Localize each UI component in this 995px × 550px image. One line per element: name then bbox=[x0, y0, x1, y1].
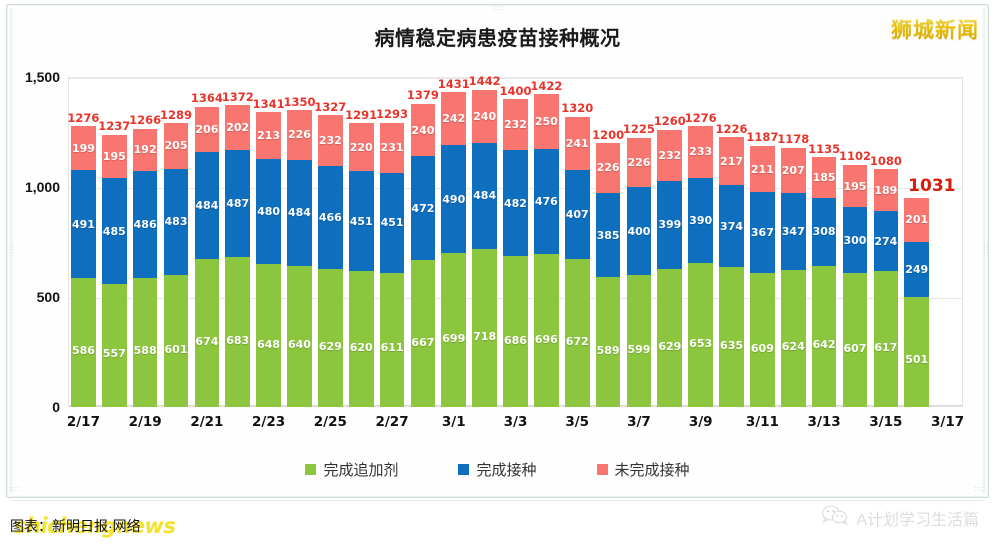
bar-segment[interactable]: 399 bbox=[657, 181, 682, 269]
bar-segment[interactable]: 484 bbox=[195, 152, 220, 258]
bar-segment[interactable]: 629 bbox=[657, 269, 682, 407]
bar-segment-value: 231 bbox=[381, 142, 404, 153]
x-axis-tick-label: 2/23 bbox=[252, 414, 285, 430]
bar-segment-value: 611 bbox=[381, 342, 404, 353]
bar-total-label: 1320 bbox=[561, 103, 593, 115]
bar-segment[interactable]: 195 bbox=[102, 135, 127, 178]
bar-segment-value: 653 bbox=[689, 338, 712, 349]
bar-segment-value: 472 bbox=[411, 203, 434, 214]
bar-segment-value: 482 bbox=[504, 198, 527, 209]
bar-total-label: 1431 bbox=[438, 79, 470, 91]
bar-total-label: 1187 bbox=[746, 132, 778, 144]
bar-segment[interactable]: 189 bbox=[874, 169, 899, 211]
bar-segment-value: 199 bbox=[72, 143, 95, 154]
bar-segment-value: 451 bbox=[381, 217, 404, 228]
bar-segment[interactable]: 476 bbox=[534, 149, 559, 254]
x-axis-tick-label: 2/27 bbox=[375, 414, 408, 430]
bar-total-label: 1341 bbox=[253, 99, 285, 111]
bar-segment-value: 240 bbox=[411, 125, 434, 136]
bar-segment-value: 240 bbox=[473, 111, 496, 122]
chart-legend: 完成追加剂完成接种未完成接种 bbox=[0, 459, 995, 480]
bar-column[interactable]: 1953006071102 bbox=[843, 165, 868, 407]
bar-segment[interactable]: 407 bbox=[565, 170, 590, 260]
bar-segment[interactable]: 250 bbox=[534, 94, 559, 149]
x-axis-tick-label: 3/3 bbox=[504, 414, 528, 430]
bar-column[interactable]: 2504766961422 bbox=[534, 94, 559, 407]
y-axis-tick-label: 1,000 bbox=[0, 179, 60, 195]
bar-segment-value: 308 bbox=[813, 226, 836, 237]
bar-segment[interactable]: 472 bbox=[411, 156, 436, 260]
bar-segment-value: 485 bbox=[103, 226, 126, 237]
bar-segment-value: 483 bbox=[165, 216, 188, 227]
bar-segment[interactable]: 232 bbox=[503, 99, 528, 150]
bar-segment[interactable]: 589 bbox=[596, 277, 621, 407]
bar-segment[interactable]: 629 bbox=[318, 269, 343, 407]
legend-item[interactable]: 完成追加剂 bbox=[305, 459, 398, 480]
bar-total-label: 1372 bbox=[222, 92, 254, 104]
bar-segment[interactable]: 226 bbox=[596, 143, 621, 193]
x-axis-tick-label: 3/13 bbox=[808, 414, 841, 430]
bar-total-label: 1080 bbox=[870, 156, 902, 168]
bar-total-label: 1442 bbox=[469, 76, 501, 88]
bar-segment-value: 624 bbox=[782, 341, 805, 352]
y-axis-tick-label: 1,500 bbox=[0, 69, 60, 85]
bar-segment[interactable]: 385 bbox=[596, 193, 621, 278]
bar-segment-value: 249 bbox=[905, 264, 928, 275]
bar-segment-value: 195 bbox=[843, 181, 866, 192]
bar-segment-value: 241 bbox=[566, 138, 589, 149]
y-axis-tick-label: 500 bbox=[0, 289, 60, 305]
bar-segment[interactable]: 274 bbox=[874, 211, 899, 271]
bar-segment-value: 501 bbox=[905, 354, 928, 365]
bar-total-label: 1276 bbox=[685, 113, 717, 125]
x-axis-tick-label: 3/1 bbox=[442, 414, 466, 430]
bar-segment[interactable]: 207 bbox=[781, 148, 806, 194]
bar-total-label: 1200 bbox=[592, 130, 624, 142]
bar-segment[interactable]: 226 bbox=[287, 110, 312, 160]
bar-segment-value: 300 bbox=[843, 235, 866, 246]
resize-grip-bottom-left[interactable]: :::: bbox=[9, 487, 21, 493]
resize-grip-top[interactable]: :::: bbox=[492, 6, 504, 12]
bar-segment-value: 347 bbox=[782, 226, 805, 237]
bar-column[interactable]: 1853086421135 bbox=[812, 157, 837, 407]
bar-segment-value: 390 bbox=[689, 215, 712, 226]
bar-segment-value: 367 bbox=[751, 227, 774, 238]
bar-column[interactable]: 2134806481341 bbox=[256, 112, 281, 407]
x-axis-tick-label: 3/17 bbox=[931, 414, 964, 430]
bar-segment-value: 233 bbox=[689, 146, 712, 157]
bar-column[interactable]: 2264005991225 bbox=[627, 138, 652, 407]
bar-segment-value: 642 bbox=[813, 339, 836, 350]
bar-segment-value: 486 bbox=[134, 219, 157, 230]
bar-segment-value: 620 bbox=[350, 342, 373, 353]
bar-segment-value: 192 bbox=[134, 144, 157, 155]
bar-segment-value: 189 bbox=[874, 185, 897, 196]
bar-column[interactable]: 1954855571237 bbox=[102, 135, 127, 407]
bar-segment-value: 635 bbox=[720, 340, 743, 351]
legend-item[interactable]: 完成接种 bbox=[458, 459, 536, 480]
bar-total-label: 1226 bbox=[716, 124, 748, 136]
bar-column[interactable]: 2073476241178 bbox=[781, 148, 806, 407]
bar-segment[interactable]: 192 bbox=[133, 129, 158, 171]
page-title: 病情稳定病患疫苗接种概况 bbox=[0, 22, 995, 51]
bar-segment[interactable]: 308 bbox=[812, 198, 837, 266]
bar-segment[interactable]: 483 bbox=[164, 169, 189, 275]
bar-segment-value: 374 bbox=[720, 221, 743, 232]
bar-segment-value: 250 bbox=[535, 116, 558, 127]
bar-segment[interactable]: 480 bbox=[256, 159, 281, 265]
bar-segment-value: 195 bbox=[103, 151, 126, 162]
bar-segment[interactable]: 485 bbox=[102, 178, 127, 285]
bar-segment[interactable]: 205 bbox=[164, 123, 189, 168]
bar-segment[interactable]: 240 bbox=[472, 90, 497, 143]
bar-segment-value: 674 bbox=[195, 336, 218, 347]
bar-column[interactable]: 1924865881266 bbox=[133, 129, 158, 408]
bar-segment[interactable]: 249 bbox=[904, 242, 929, 297]
bar-segment[interactable]: 609 bbox=[750, 273, 775, 407]
bar-segment-value: 589 bbox=[597, 345, 620, 356]
bar-segment-value: 484 bbox=[195, 200, 218, 211]
bar-segment[interactable]: 300 bbox=[843, 207, 868, 273]
bar-segment[interactable]: 674 bbox=[195, 259, 220, 407]
bar-segment-value: 206 bbox=[195, 124, 218, 135]
bar-segment[interactable]: 231 bbox=[380, 123, 405, 174]
bar-segment[interactable]: 232 bbox=[657, 130, 682, 181]
bar-segment[interactable]: 232 bbox=[318, 115, 343, 166]
bar-segment-value: 451 bbox=[350, 216, 373, 227]
bar-segment-value: 607 bbox=[843, 343, 866, 354]
bar-segment-value: 480 bbox=[257, 206, 280, 217]
bar-segment[interactable]: 686 bbox=[503, 256, 528, 407]
bar-segment[interactable]: 367 bbox=[750, 192, 775, 273]
bar-segment-value: 466 bbox=[319, 212, 342, 223]
bar-column[interactable]: 1892746171080 bbox=[874, 169, 899, 407]
bar-segment[interactable]: 683 bbox=[225, 257, 250, 407]
bar-segment-value: 226 bbox=[597, 162, 620, 173]
bar-segment[interactable]: 696 bbox=[534, 254, 559, 407]
bar-segment-value: 400 bbox=[627, 226, 650, 237]
bar-segment[interactable]: 617 bbox=[874, 271, 899, 407]
bar-column[interactable]: 2314516111293 bbox=[380, 123, 405, 407]
bar-segment-value: 718 bbox=[473, 331, 496, 342]
bar-segment[interactable]: 482 bbox=[503, 150, 528, 256]
footer-divider bbox=[12, 500, 983, 501]
bar-segment-value: 696 bbox=[535, 334, 558, 345]
bar-segment-value: 667 bbox=[411, 337, 434, 348]
bar-segment[interactable]: 451 bbox=[349, 171, 374, 270]
bar-total-label: 1276 bbox=[67, 113, 99, 125]
legend-swatch-icon bbox=[458, 464, 469, 475]
bar-segment[interactable]: 642 bbox=[812, 266, 837, 407]
bar-segment-value: 220 bbox=[350, 142, 373, 153]
bar-segment-value: 491 bbox=[72, 219, 95, 230]
bar-column[interactable]: 2324666291327 bbox=[318, 115, 343, 407]
bar-segment[interactable]: 220 bbox=[349, 123, 374, 171]
bar-total-label: 1237 bbox=[98, 121, 130, 133]
bar-segment-value: 683 bbox=[226, 335, 249, 346]
bar-total-label: 1102 bbox=[839, 151, 871, 163]
bar-segment-value: 672 bbox=[566, 336, 589, 347]
bar-series-container: 1994915861276195485557123719248658812662… bbox=[68, 77, 963, 407]
bar-segment[interactable]: 635 bbox=[719, 267, 744, 407]
bar-segment[interactable]: 466 bbox=[318, 166, 343, 269]
bar-segment-value: 202 bbox=[226, 122, 249, 133]
bar-segment[interactable]: 217 bbox=[719, 137, 744, 185]
bar-segment-value: 490 bbox=[442, 194, 465, 205]
bar-segment[interactable]: 486 bbox=[133, 171, 158, 278]
bar-segment[interactable]: 185 bbox=[812, 157, 837, 198]
bar-column[interactable]: 2024876831372 bbox=[225, 105, 250, 407]
bar-segment[interactable]: 400 bbox=[627, 187, 652, 275]
bar-segment-value: 274 bbox=[874, 236, 897, 247]
bar-column[interactable]: 1994915861276 bbox=[71, 126, 96, 407]
bar-column[interactable]: 2323996291260 bbox=[657, 130, 682, 407]
bar-segment[interactable]: 374 bbox=[719, 185, 744, 267]
resize-grip-right[interactable]: :::: bbox=[982, 243, 988, 255]
legend-label: 未完成接种 bbox=[615, 459, 690, 480]
bar-column[interactable]: 2113676091187 bbox=[750, 146, 775, 407]
bar-segment-value: 226 bbox=[288, 129, 311, 140]
bar-segment-value: 484 bbox=[288, 207, 311, 218]
bar-column[interactable]: 2324826861400 bbox=[503, 99, 528, 407]
bar-total-label: 1225 bbox=[623, 124, 655, 136]
bar-segment-value: 487 bbox=[226, 198, 249, 209]
bar-segment[interactable]: 607 bbox=[843, 273, 868, 407]
bar-segment[interactable]: 213 bbox=[256, 112, 281, 159]
bar-segment-value: 407 bbox=[566, 209, 589, 220]
bar-segment-value: 557 bbox=[103, 348, 126, 359]
bar-segment-value: 588 bbox=[134, 345, 157, 356]
bar-segment-value: 617 bbox=[874, 342, 897, 353]
bar-column[interactable]: 2054836011289 bbox=[164, 123, 189, 407]
wechat-icon bbox=[822, 505, 848, 530]
bar-segment-value: 686 bbox=[504, 335, 527, 346]
bar-segment-value: 211 bbox=[751, 164, 774, 175]
bar-column[interactable]: 2414076721320 bbox=[565, 117, 590, 407]
brand-logo: 狮城新闻 bbox=[891, 14, 979, 44]
bar-segment[interactable]: 202 bbox=[225, 105, 250, 149]
bar-column[interactable]: 2404847181442 bbox=[472, 90, 497, 407]
bar-segment-value: 399 bbox=[658, 219, 681, 230]
y-axis-tick-label: 0 bbox=[0, 399, 60, 415]
bar-segment[interactable]: 620 bbox=[349, 271, 374, 407]
bar-segment[interactable]: 667 bbox=[411, 260, 436, 407]
x-axis-tick-label: 3/5 bbox=[565, 414, 589, 430]
bar-segment[interactable]: 451 bbox=[380, 173, 405, 272]
bar-total-label: 1031 bbox=[908, 178, 955, 195]
bar-total-label: 1260 bbox=[654, 116, 686, 128]
bar-total-label: 1135 bbox=[808, 144, 840, 156]
bar-column[interactable]: 2064846741364 bbox=[195, 107, 220, 407]
bar-segment-value: 185 bbox=[813, 172, 836, 183]
legend-label: 完成追加剂 bbox=[323, 459, 398, 480]
bar-segment[interactable]: 490 bbox=[441, 145, 466, 253]
bar-column[interactable]: 2264846401350 bbox=[287, 110, 312, 407]
bar-total-label: 1350 bbox=[283, 97, 315, 109]
bar-segment[interactable]: 648 bbox=[256, 264, 281, 407]
resize-grip-left[interactable]: :::: bbox=[7, 243, 13, 255]
bar-segment-value: 629 bbox=[319, 341, 342, 352]
bar-segment[interactable]: 241 bbox=[565, 117, 590, 170]
bar-segment[interactable]: 640 bbox=[287, 266, 312, 407]
bar-segment-value: 385 bbox=[597, 230, 620, 241]
bar-segment[interactable]: 390 bbox=[688, 178, 713, 264]
bar-column[interactable]: 2333906531276 bbox=[688, 126, 713, 407]
bar-segment[interactable]: 624 bbox=[781, 270, 806, 407]
bar-segment[interactable]: 653 bbox=[688, 263, 713, 407]
bar-segment[interactable]: 195 bbox=[843, 165, 868, 208]
bar-segment-value: 601 bbox=[165, 344, 188, 355]
legend-swatch-icon bbox=[305, 464, 316, 475]
bar-segment[interactable]: 199 bbox=[71, 126, 96, 170]
bar-segment-value: 640 bbox=[288, 339, 311, 350]
bar-segment[interactable]: 206 bbox=[195, 107, 220, 152]
bar-segment[interactable]: 487 bbox=[225, 150, 250, 257]
bar-column[interactable]: 2263855891200 bbox=[596, 143, 621, 407]
legend-item[interactable]: 未完成接种 bbox=[597, 459, 690, 480]
bar-segment-value: 476 bbox=[535, 196, 558, 207]
legend-label: 完成接种 bbox=[476, 459, 536, 480]
bar-total-label: 1379 bbox=[407, 90, 439, 102]
bar-column[interactable]: 2204516201291 bbox=[349, 123, 374, 407]
bar-segment[interactable]: 347 bbox=[781, 193, 806, 269]
bar-segment[interactable]: 557 bbox=[102, 284, 127, 407]
wechat-account-name: A计划学习生活篇 bbox=[856, 506, 979, 530]
bar-segment-value: 699 bbox=[442, 333, 465, 344]
bar-total-label: 1364 bbox=[191, 93, 223, 105]
bar-column[interactable]: 2173746351226 bbox=[719, 137, 744, 407]
bar-segment[interactable]: 201 bbox=[904, 198, 929, 242]
bar-segment-value: 217 bbox=[720, 156, 743, 167]
bar-total-label: 1289 bbox=[160, 110, 192, 122]
bar-segment-value: 484 bbox=[473, 190, 496, 201]
x-axis-tick-label: 3/15 bbox=[869, 414, 902, 430]
bar-total-label: 1422 bbox=[530, 81, 562, 93]
bar-segment-value: 586 bbox=[72, 345, 95, 356]
x-axis-tick-label: 2/21 bbox=[190, 414, 223, 430]
x-axis-ticks: 2/172/192/212/232/252/273/13/33/53/73/93… bbox=[68, 414, 963, 438]
bar-segment[interactable]: 240 bbox=[411, 104, 436, 157]
chart-screenshot: :::: :::: :::: :::: :::: 病情稳定病患疫苗接种概况 狮城… bbox=[0, 0, 995, 550]
watermark: shichengnews bbox=[14, 514, 175, 538]
bar-total-label: 1178 bbox=[777, 134, 809, 146]
x-axis-tick-label: 3/11 bbox=[746, 414, 779, 430]
bar-segment-value: 599 bbox=[627, 344, 650, 355]
bar-segment-value: 226 bbox=[627, 157, 650, 168]
bar-segment[interactable]: 599 bbox=[627, 275, 652, 407]
bar-segment[interactable]: 601 bbox=[164, 275, 189, 407]
x-axis-tick-label: 3/7 bbox=[627, 414, 651, 430]
bar-segment[interactable]: 233 bbox=[688, 126, 713, 177]
bar-segment[interactable]: 242 bbox=[441, 92, 466, 145]
bar-total-label: 1291 bbox=[345, 110, 377, 122]
bar-segment-value: 242 bbox=[442, 113, 465, 124]
bar-segment-value: 232 bbox=[319, 135, 342, 146]
bar-column[interactable]: 2424906991431 bbox=[441, 92, 466, 407]
bar-segment[interactable]: 586 bbox=[71, 278, 96, 407]
bar-segment[interactable]: 672 bbox=[565, 259, 590, 407]
bar-total-label: 1266 bbox=[129, 115, 161, 127]
bar-total-label: 1327 bbox=[314, 102, 346, 114]
bar-segment[interactable]: 588 bbox=[133, 278, 158, 407]
resize-grip-bottom-right[interactable]: :::: bbox=[974, 487, 986, 493]
bar-segment-value: 629 bbox=[658, 341, 681, 352]
bar-segment-value: 232 bbox=[658, 150, 681, 161]
bar-segment[interactable]: 211 bbox=[750, 146, 775, 192]
wechat-footer: A计划学习生活篇 bbox=[822, 505, 979, 530]
legend-swatch-icon bbox=[597, 464, 608, 475]
bar-segment[interactable]: 611 bbox=[380, 273, 405, 407]
x-axis-tick-label: 2/17 bbox=[67, 414, 100, 430]
bar-segment[interactable]: 226 bbox=[627, 138, 652, 188]
bar-segment[interactable]: 491 bbox=[71, 170, 96, 278]
bar-segment[interactable]: 484 bbox=[287, 160, 312, 266]
x-axis-tick-label: 2/25 bbox=[314, 414, 347, 430]
bar-segment-value: 232 bbox=[504, 119, 527, 130]
bar-column[interactable]: 2012495011031 bbox=[904, 198, 929, 407]
bar-segment-value: 201 bbox=[905, 214, 928, 225]
bar-total-label: 1293 bbox=[376, 109, 408, 121]
bar-segment[interactable]: 699 bbox=[441, 253, 466, 407]
x-axis-tick-label: 2/19 bbox=[129, 414, 162, 430]
bar-segment-value: 205 bbox=[165, 140, 188, 151]
bar-total-label: 1400 bbox=[499, 86, 531, 98]
bar-segment[interactable]: 501 bbox=[904, 297, 929, 407]
bar-segment[interactable]: 718 bbox=[472, 249, 497, 407]
bar-column[interactable]: 2404726671379 bbox=[411, 104, 436, 407]
x-axis-tick-label: 3/9 bbox=[689, 414, 713, 430]
bar-segment-value: 213 bbox=[257, 130, 280, 141]
bar-segment[interactable]: 484 bbox=[472, 143, 497, 249]
bar-segment-value: 648 bbox=[257, 339, 280, 350]
bar-segment-value: 207 bbox=[782, 165, 805, 176]
bar-segment-value: 609 bbox=[751, 343, 774, 354]
